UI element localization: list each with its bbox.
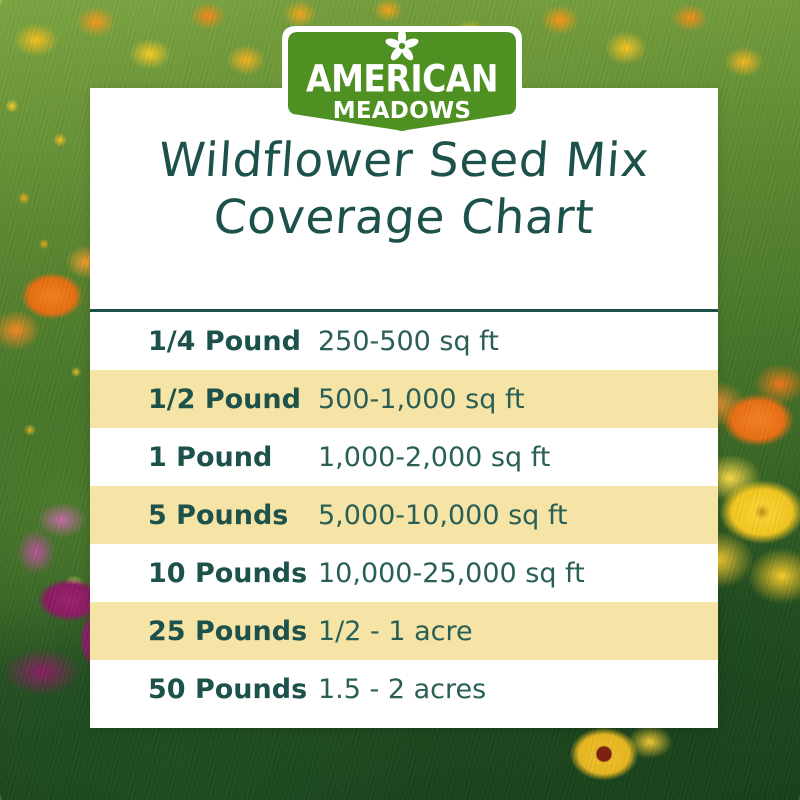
cell-amount: 25 Pounds [90,616,318,647]
title-line-1: Wildflower Seed Mix [88,132,720,189]
cell-amount: 1 Pound [90,442,318,473]
cell-coverage: 1.5 - 2 acres [318,674,718,705]
cell-amount: 50 Pounds [90,674,318,705]
cell-coverage: 250-500 sq ft [318,326,718,357]
table-row: 25 Pounds1/2 - 1 acre [90,602,718,660]
title-line-2: Coverage Chart [88,189,720,246]
table-row: 50 Pounds1.5 - 2 acres [90,660,718,718]
coverage-table: 1/4 Pound250-500 sq ft1/2 Pound500-1,000… [90,312,718,718]
table-row: 5 Pounds5,000-10,000 sq ft [90,486,718,544]
table-row: 1 Pound1,000-2,000 sq ft [90,428,718,486]
table-row: 1/2 Pound500-1,000 sq ft [90,370,718,428]
american-meadows-logo: AMERICAN MEADOWS [268,22,536,140]
cell-amount: 5 Pounds [90,500,318,531]
cell-coverage: 10,000-25,000 sq ft [318,558,718,589]
cell-amount: 1/2 Pound [90,384,318,415]
cell-coverage: 1,000-2,000 sq ft [318,442,718,473]
logo-line2: MEADOWS [333,98,471,124]
cell-coverage: 500-1,000 sq ft [318,384,718,415]
cell-amount: 1/4 Pound [90,326,318,357]
cell-coverage: 5,000-10,000 sq ft [318,500,718,531]
logo-line1: AMERICAN [306,58,498,101]
table-row: 10 Pounds10,000-25,000 sq ft [90,544,718,602]
cell-amount: 10 Pounds [90,558,318,589]
page-title: Wildflower Seed Mix Coverage Chart [90,132,718,246]
cell-coverage: 1/2 - 1 acre [318,616,718,647]
table-row: 1/4 Pound250-500 sq ft [90,312,718,370]
